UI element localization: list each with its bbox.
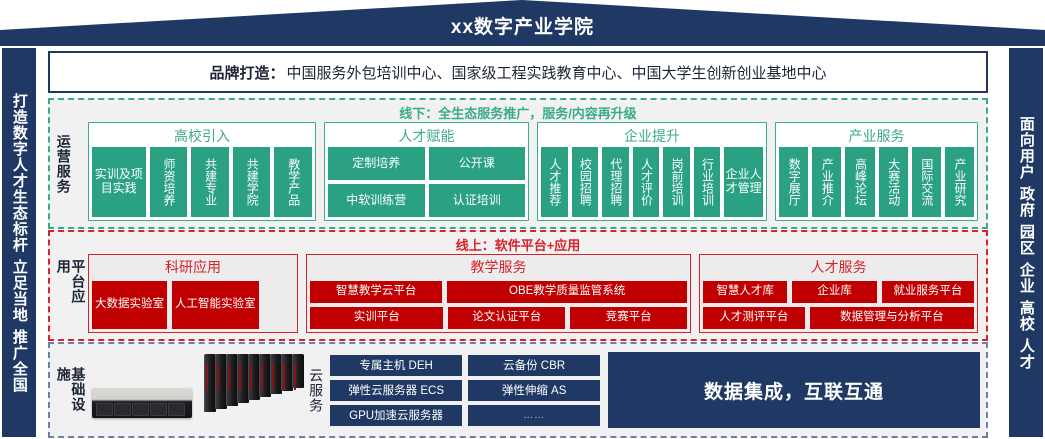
panel-title: 企业提升 bbox=[541, 126, 763, 147]
panel-title: 教学服务 bbox=[310, 258, 687, 278]
panel-title: 人才赋能 bbox=[328, 126, 525, 147]
center-column: 品牌打造： 中国服务外包培训中心、国家级工程实践教育中心、中国大学生创新创业基地… bbox=[40, 48, 1006, 437]
right-pillar: 面向用户 政府 园区 企业 高校 人才 bbox=[1009, 48, 1043, 437]
tile-industry-promotion[interactable]: 产业推介 bbox=[812, 147, 841, 217]
panel-talent-service[interactable]: 人才服务 智慧人才库 企业库 就业服务平台 人才测评平台 数据管理与分析平台 bbox=[699, 254, 978, 333]
right-pillar-item-0: 面向用户 bbox=[1018, 116, 1034, 180]
tile-deh[interactable]: 专属主机 DEH bbox=[330, 355, 462, 376]
brand-label: 品牌打造： bbox=[209, 62, 284, 83]
tile-smart-teaching-cloud[interactable]: 智慧教学云平台 bbox=[310, 281, 442, 303]
cloud-service-grid: 专属主机 DEH 弹性云服务器 ECS GPU加速云服务器 云备份 CBR 弹性… bbox=[330, 355, 600, 426]
panel-enterprise-upgrade[interactable]: 企业提升 人才推荐 校园招聘 代理招聘 人才评价 岗前培训 行业培训 企业人才管… bbox=[537, 122, 767, 221]
tile-international-exchange[interactable]: 国际交流 bbox=[912, 147, 941, 217]
tile-competition-platform[interactable]: 竞赛平台 bbox=[570, 307, 687, 329]
operations-band: 线下：全生态服务推广，服务/内容再升级 运营服务 高校引入 实训及项目实践 师资… bbox=[48, 98, 988, 229]
tile-bigdata-lab[interactable]: 大数据实验室 bbox=[92, 281, 167, 329]
tile-summit-forum[interactable]: 高峰论坛 bbox=[845, 147, 874, 217]
infrastructure-band: 基础设施 bbox=[48, 342, 988, 438]
panel-talent-empowerment[interactable]: 人才赋能 定制培养 公开课 中软训练营 认证培训 bbox=[324, 122, 529, 221]
tile-custom-training[interactable]: 定制培养 bbox=[328, 147, 425, 180]
panel-title: 高校引入 bbox=[92, 126, 312, 147]
rack-server-image bbox=[92, 388, 192, 418]
tile-products[interactable]: 教学产品 bbox=[274, 147, 312, 217]
tile-gpu-server[interactable]: GPU加速云服务器 bbox=[330, 405, 462, 426]
tile-talent-recommend[interactable]: 人才推荐 bbox=[541, 147, 568, 217]
right-pillar-item-1: 政府 bbox=[1018, 186, 1034, 218]
left-pillar-item-1: 立足当地 bbox=[11, 259, 27, 323]
page-title: xx数字产业学院 bbox=[0, 12, 1045, 39]
left-pillar: 打造数字人才生态标杆 立足当地 推广全国 bbox=[2, 48, 36, 437]
poster-root: xx数字产业学院 打造数字人才生态标杆 立足当地 推广全国 面向用户 政府 园区… bbox=[0, 0, 1045, 439]
platform-band: 线上：软件平台+应用 平台应用 科研应用 大数据实验室 人工智能实验室 教学服务 bbox=[48, 230, 988, 341]
panel-title: 科研应用 bbox=[92, 258, 294, 278]
tile-talent-evaluation[interactable]: 人才评价 bbox=[633, 147, 660, 217]
right-pillar-item-3: 企业 bbox=[1018, 262, 1034, 294]
panel-title: 人才服务 bbox=[703, 258, 974, 278]
tile-bootcamp[interactable]: 中软训练营 bbox=[328, 184, 425, 217]
tile-agency-recruit[interactable]: 代理招聘 bbox=[602, 147, 629, 217]
tile-competition[interactable]: 大赛活动 bbox=[879, 147, 908, 217]
tile-talent-management[interactable]: 企业人才管理 bbox=[724, 147, 763, 217]
tile-industry-training[interactable]: 行业培训 bbox=[694, 147, 721, 217]
panel-title: 产业服务 bbox=[779, 126, 974, 147]
tile-practice[interactable]: 实训及项目实践 bbox=[92, 147, 146, 217]
brand-bar: 品牌打造： 中国服务外包培训中心、国家级工程实践教育中心、中国大学生创新创业基地… bbox=[48, 51, 988, 93]
data-integration-box: 数据集成，互联互通 bbox=[608, 352, 980, 428]
tile-ai-lab[interactable]: 人工智能实验室 bbox=[172, 281, 259, 329]
server-images bbox=[88, 348, 306, 432]
left-pillar-item-0: 打造数字人才生态标杆 bbox=[11, 93, 27, 253]
right-pillar-item-2: 园区 bbox=[1018, 224, 1034, 256]
tile-faculty[interactable]: 师资培养 bbox=[150, 147, 188, 217]
tile-more[interactable]: …… bbox=[468, 405, 600, 426]
tile-ecs[interactable]: 弹性云服务器 ECS bbox=[330, 380, 462, 401]
brand-text: 中国服务外包培训中心、国家级工程实践教育中心、中国大学生创新创业基地中心 bbox=[287, 62, 827, 83]
tile-digital-hall[interactable]: 数字展厅 bbox=[779, 147, 808, 217]
tile-campus-recruit[interactable]: 校园招聘 bbox=[572, 147, 599, 217]
tile-major[interactable]: 共建专业 bbox=[191, 147, 229, 217]
infrastructure-side-label: 基础设施 bbox=[56, 367, 85, 413]
operations-heading: 线下：全生态服务推广，服务/内容再升级 bbox=[50, 103, 986, 122]
tile-talent-assessment[interactable]: 人才测评平台 bbox=[703, 307, 805, 329]
tile-smart-talent-pool[interactable]: 智慧人才库 bbox=[703, 281, 787, 303]
tile-thesis-platform[interactable]: 论文认证平台 bbox=[448, 307, 565, 329]
right-pillar-item-4: 高校 bbox=[1018, 300, 1034, 332]
tile-pre-job-training[interactable]: 岗前培训 bbox=[663, 147, 690, 217]
platform-side-label: 平台应用 bbox=[56, 259, 85, 313]
tile-as[interactable]: 弹性伸缩 AS bbox=[468, 380, 600, 401]
tile-industry-research[interactable]: 产业研究 bbox=[945, 147, 974, 217]
tile-employment-platform[interactable]: 就业服务平台 bbox=[882, 281, 974, 303]
panel-college-introduction[interactable]: 高校引入 实训及项目实践 师资培养 共建专业 共建学院 教学产品 bbox=[88, 122, 316, 221]
tile-enterprise-pool[interactable]: 企业库 bbox=[792, 281, 876, 303]
platform-heading: 线上：软件平台+应用 bbox=[50, 235, 986, 254]
cloud-service-label: 云服务 bbox=[308, 368, 323, 413]
roof-banner: xx数字产业学院 bbox=[0, 0, 1045, 46]
tile-certification[interactable]: 认证培训 bbox=[429, 184, 526, 217]
panel-research-application[interactable]: 科研应用 大数据实验室 人工智能实验室 bbox=[88, 254, 298, 333]
server-cabinet-image bbox=[204, 354, 306, 412]
panel-teaching-service[interactable]: 教学服务 智慧教学云平台 OBE教学质量监管系统 实训平台 论文认证平台 竞赛平… bbox=[306, 254, 691, 333]
operations-side-label: 运营服务 bbox=[56, 134, 71, 194]
tile-training-platform[interactable]: 实训平台 bbox=[310, 307, 443, 329]
tile-data-analysis-platform[interactable]: 数据管理与分析平台 bbox=[810, 307, 974, 329]
panel-industry-service[interactable]: 产业服务 数字展厅 产业推介 高峰论坛 大赛活动 国际交流 产业研究 bbox=[775, 122, 978, 221]
tile-open-course[interactable]: 公开课 bbox=[429, 147, 526, 180]
left-pillar-item-2: 推广全国 bbox=[11, 329, 27, 393]
right-pillar-item-5: 人才 bbox=[1018, 338, 1034, 370]
tile-cbr[interactable]: 云备份 CBR bbox=[468, 355, 600, 376]
tile-obe-quality-system[interactable]: OBE教学质量监管系统 bbox=[447, 281, 687, 303]
tile-academy[interactable]: 共建学院 bbox=[233, 147, 271, 217]
